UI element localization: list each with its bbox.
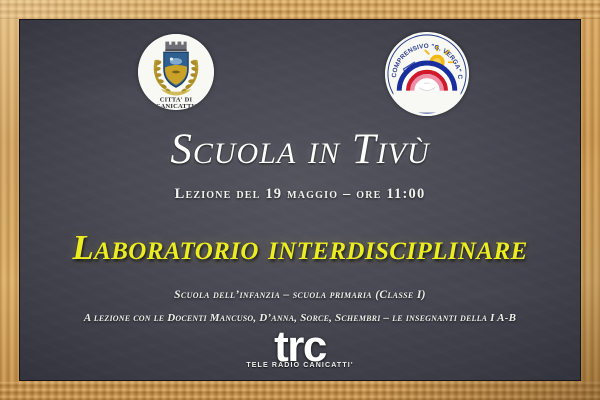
chalkboard: CITTA' DI CANICATTI' bbox=[19, 19, 581, 381]
citta-di-canicatti-crest-icon: CITTA' DI CANICATTI' bbox=[138, 34, 214, 110]
school-levels-line: Scuola dell’infanzia – scuola primaria (… bbox=[20, 289, 580, 301]
frame-bottom-grain bbox=[0, 381, 600, 400]
istituto-comprensivo-logo-icon: ISTITUTO COMPRENSIVO "G. VERGA" CANICATT… bbox=[385, 32, 469, 116]
crest-label-line2: CANICATTI' bbox=[156, 103, 197, 110]
trc-broadcaster-logo: trc TELE RADIO CANICATTI' bbox=[20, 328, 580, 372]
trc-logo-inner: trc TELE RADIO CANICATTI' bbox=[246, 328, 353, 369]
trc-tagline: TELE RADIO CANICATTI' bbox=[246, 362, 353, 369]
page-title: Scuola in Tivù bbox=[20, 128, 580, 171]
headline-topic: Laboratorio interdisciplinare bbox=[20, 230, 580, 265]
poster-chalkboard-graphic: CITTA' DI CANICATTI' bbox=[0, 0, 600, 400]
logo-row: CITTA' DI CANICATTI' bbox=[20, 26, 580, 122]
frame-top-grain bbox=[0, 0, 600, 19]
poster-content: CITTA' DI CANICATTI' bbox=[20, 20, 580, 380]
lesson-datetime: Lezione del 19 maggio – ore 11:00 bbox=[20, 186, 580, 203]
